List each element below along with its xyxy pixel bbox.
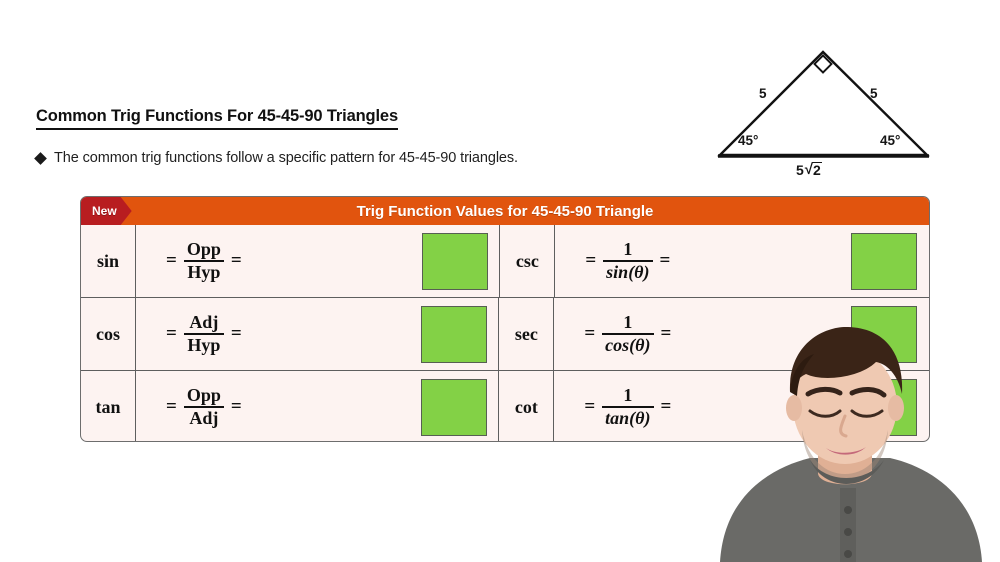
fraction-numerator: 1 bbox=[620, 240, 635, 260]
table-body: sin = Opp Hyp = bbox=[81, 225, 929, 442]
radicand: 2 bbox=[812, 162, 822, 178]
fraction-numerator: Adj bbox=[186, 313, 221, 333]
function-label: tan bbox=[95, 397, 120, 418]
formula-cell-tan: = Opp Adj = bbox=[136, 371, 409, 442]
answer-box[interactable] bbox=[421, 306, 487, 363]
function-name-cell-cos: cos bbox=[81, 298, 136, 370]
equals-sign: = bbox=[231, 323, 242, 345]
fraction: Opp Adj bbox=[184, 386, 224, 427]
equals-sign: = bbox=[661, 396, 672, 418]
triangle-svg bbox=[700, 38, 950, 193]
equals-sign: = bbox=[584, 323, 595, 345]
slide-canvas: Common Trig Functions For 45-45-90 Trian… bbox=[0, 0, 1000, 562]
table-row: tan = Opp Adj = bbox=[81, 370, 929, 442]
formula-equation: = 1 tan(θ) = bbox=[584, 386, 671, 427]
fraction-denominator: Adj bbox=[186, 408, 221, 428]
fraction: Adj Hyp bbox=[184, 313, 224, 354]
new-badge-label: New bbox=[92, 204, 117, 218]
function-name-cell-sec: sec bbox=[499, 298, 554, 370]
equals-sign: = bbox=[231, 396, 242, 418]
equals-sign: = bbox=[661, 323, 672, 345]
triangle-leg-right-label: 5 bbox=[870, 86, 878, 101]
equals-sign: = bbox=[585, 250, 596, 272]
fraction-numerator: Opp bbox=[184, 240, 224, 260]
fraction: 1 cos(θ) bbox=[602, 313, 653, 354]
triangle-angle-left-label: 45° bbox=[738, 133, 758, 148]
equals-sign: = bbox=[660, 250, 671, 272]
diamond-bullet-icon bbox=[34, 152, 47, 165]
fraction-denominator: sin(θ) bbox=[603, 262, 652, 282]
formula-cell-cos: = Adj Hyp = bbox=[136, 298, 409, 370]
function-name-cell-tan: tan bbox=[81, 371, 136, 442]
function-name-cell-csc: csc bbox=[500, 225, 555, 297]
answer-box[interactable] bbox=[851, 379, 917, 436]
formula-equation: = Opp Adj = bbox=[166, 386, 242, 427]
table-row: cos = Adj Hyp = bbox=[81, 297, 929, 370]
fraction-numerator: Opp bbox=[184, 386, 224, 406]
fraction-denominator: Hyp bbox=[184, 262, 223, 282]
formula-cell-sec: = 1 cos(θ) = bbox=[554, 298, 839, 370]
answer-cell-tan[interactable] bbox=[409, 371, 499, 442]
answer-cell-cos[interactable] bbox=[409, 298, 499, 370]
fraction-numerator: 1 bbox=[620, 386, 635, 406]
formula-cell-cot: = 1 tan(θ) = bbox=[554, 371, 839, 442]
equals-sign: = bbox=[166, 250, 177, 272]
formula-cell-csc: = 1 sin(θ) = bbox=[555, 225, 839, 297]
equals-sign: = bbox=[584, 396, 595, 418]
trig-values-table: New Trig Function Values for 45-45-90 Tr… bbox=[80, 196, 930, 442]
answer-cell-sec[interactable] bbox=[839, 298, 929, 370]
formula-equation: = Adj Hyp = bbox=[166, 313, 242, 354]
table-header-title: Trig Function Values for 45-45-90 Triang… bbox=[357, 203, 654, 220]
function-label: sin bbox=[97, 251, 119, 272]
equals-sign: = bbox=[166, 323, 177, 345]
table-row: sin = Opp Hyp = bbox=[81, 225, 929, 297]
page-title: Common Trig Functions For 45-45-90 Trian… bbox=[36, 107, 398, 130]
formula-equation: = 1 cos(θ) = bbox=[584, 313, 671, 354]
answer-box[interactable] bbox=[851, 306, 917, 363]
triangle-angle-right-label: 45° bbox=[880, 133, 900, 148]
radical-group: √ 2 bbox=[805, 162, 822, 178]
function-label: cos bbox=[96, 324, 120, 345]
fraction-denominator: cos(θ) bbox=[602, 335, 653, 355]
table-header-bar: New Trig Function Values for 45-45-90 Tr… bbox=[81, 197, 929, 225]
answer-box[interactable] bbox=[421, 379, 487, 436]
fraction: 1 sin(θ) bbox=[603, 240, 652, 281]
base-coefficient: 5 bbox=[796, 162, 804, 178]
formula-equation: = Opp Hyp = bbox=[166, 240, 242, 281]
function-label: cot bbox=[515, 397, 538, 418]
fraction-denominator: tan(θ) bbox=[602, 408, 653, 428]
answer-box[interactable] bbox=[851, 233, 917, 290]
fraction: 1 tan(θ) bbox=[602, 386, 653, 427]
equals-sign: = bbox=[166, 396, 177, 418]
function-label: sec bbox=[515, 324, 538, 345]
bullet-text: The common trig functions follow a speci… bbox=[54, 150, 518, 166]
triangle-base-label: 5 √ 2 bbox=[796, 162, 822, 178]
equals-sign: = bbox=[231, 250, 242, 272]
answer-cell-cot[interactable] bbox=[839, 371, 929, 442]
new-badge: New bbox=[81, 197, 132, 225]
bullet-item: The common trig functions follow a speci… bbox=[36, 150, 518, 166]
function-label: csc bbox=[516, 251, 539, 272]
fraction-denominator: Hyp bbox=[184, 335, 223, 355]
formula-equation: = 1 sin(θ) = bbox=[585, 240, 670, 281]
fraction: Opp Hyp bbox=[184, 240, 224, 281]
fraction-numerator: 1 bbox=[620, 313, 635, 333]
answer-cell-sin[interactable] bbox=[410, 225, 500, 297]
answer-box[interactable] bbox=[422, 233, 488, 290]
triangle-leg-left-label: 5 bbox=[759, 86, 767, 101]
function-name-cell-cot: cot bbox=[499, 371, 554, 442]
triangle-diagram: 5 5 45° 45° 5 √ 2 bbox=[700, 38, 950, 193]
function-name-cell-sin: sin bbox=[81, 225, 136, 297]
answer-cell-csc[interactable] bbox=[839, 225, 929, 297]
formula-cell-sin: = Opp Hyp = bbox=[136, 225, 410, 297]
